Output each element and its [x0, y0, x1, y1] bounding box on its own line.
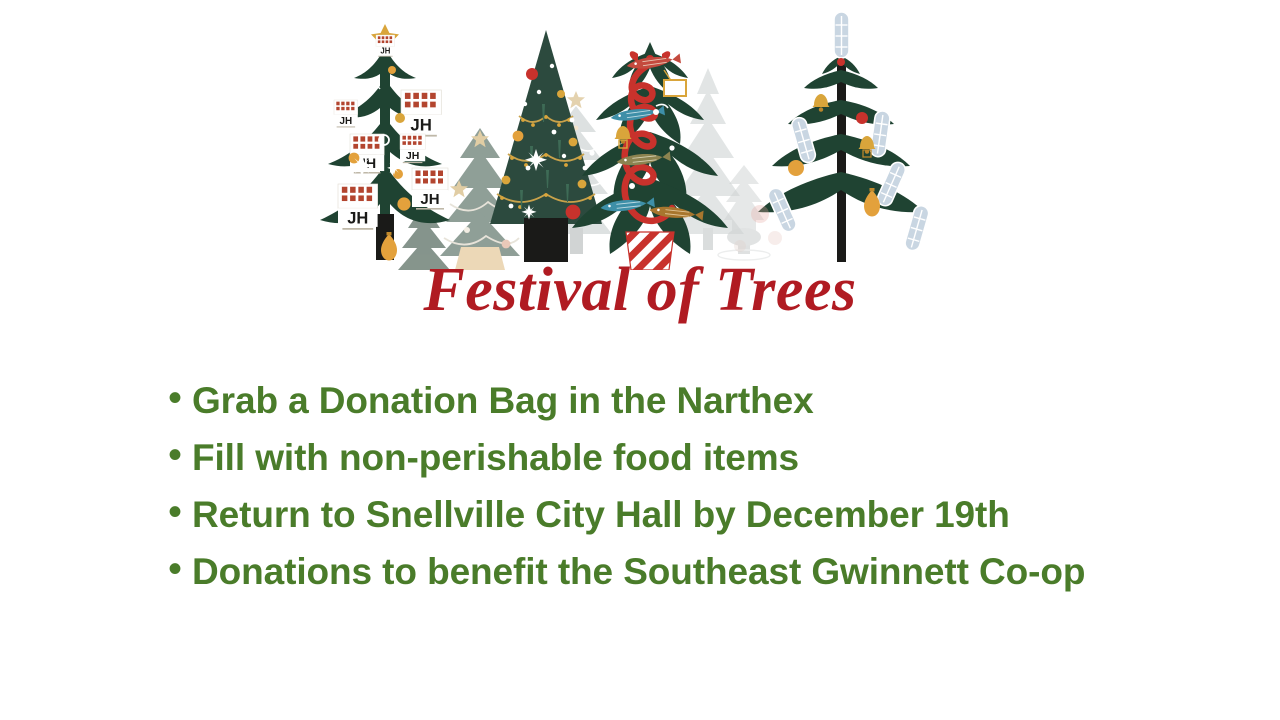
bullet-list: • Grab a Donation Bag in the Narthex • F…: [168, 380, 1258, 608]
festival-of-trees-illustration: JH: [320, 8, 960, 270]
bullet-text: Grab a Donation Bag in the Narthex: [192, 381, 1258, 421]
tree-1-star-topper: [371, 24, 399, 57]
bullet-text: Donations to benefit the Southeast Gwinn…: [192, 552, 1258, 592]
bullet-text: Fill with non-perishable food items: [192, 438, 1258, 478]
list-item: • Return to Snellville City Hall by Dece…: [168, 494, 1258, 551]
bullet-text: Return to Snellville City Hall by Decemb…: [192, 495, 1258, 535]
bullet-marker-icon: •: [168, 492, 192, 532]
festival-of-trees-wordmark: Festival of Trees: [0, 258, 1280, 323]
bullet-marker-icon: •: [168, 435, 192, 475]
bullet-marker-icon: •: [168, 549, 192, 589]
list-item: • Donations to benefit the Southeast Gwi…: [168, 551, 1258, 608]
list-item: • Grab a Donation Bag in the Narthex: [168, 380, 1258, 437]
bullet-marker-icon: •: [168, 378, 192, 418]
slide-canvas: JH: [0, 0, 1280, 720]
list-item: • Fill with non-perishable food items: [168, 437, 1258, 494]
tree-4-window-ornaments: [758, 12, 930, 262]
